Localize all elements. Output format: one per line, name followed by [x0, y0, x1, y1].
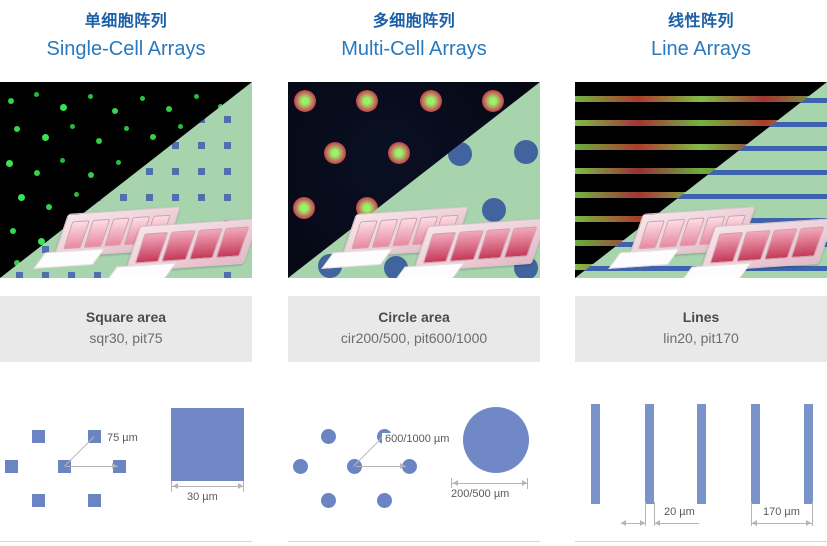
pitch-leader-horizontal: [66, 466, 118, 467]
pitch-arrow-left: [655, 520, 660, 526]
pattern-circle: [293, 459, 308, 474]
pitch-label: 75 µm: [104, 432, 141, 444]
size-arrow-right: [522, 480, 527, 486]
size-tick-left: [171, 481, 172, 492]
culture-slide-photo: [350, 196, 540, 278]
caption-subtitle: cir200/500, pit600/1000: [288, 327, 540, 349]
pattern-circle: [377, 493, 392, 508]
caption-title: Square area: [0, 307, 252, 327]
pattern-square: [88, 494, 101, 507]
pitch-arrow-head: [112, 463, 117, 469]
heading-chinese: 线性阵列: [575, 10, 827, 32]
pitch-extension-right: [812, 502, 813, 526]
pattern-square: [32, 430, 45, 443]
product-comparison-board: 单细胞阵列 Single-Cell Arrays: [0, 0, 827, 546]
heading-block: 多细胞阵列 Multi-Cell Arrays: [288, 10, 540, 64]
pitch-arrow-head-right: [806, 520, 811, 526]
size-tick-right: [243, 481, 244, 492]
pitch-arrow-head: [400, 463, 405, 469]
culture-slide-dark: [125, 218, 252, 272]
size-label: 200/500 µm: [448, 488, 512, 500]
pattern-square: [5, 460, 18, 473]
photo-multi-cell-arrays: [288, 82, 540, 278]
diagram-square-array: 75 µm 30 µm: [0, 382, 252, 542]
heading-block: 单细胞阵列 Single-Cell Arrays: [0, 10, 252, 64]
pitch-leader-diagonal: [353, 436, 383, 466]
photo-single-cell-arrays: [0, 82, 252, 278]
heading-chinese: 单细胞阵列: [0, 10, 252, 32]
feature-size-square: [171, 408, 244, 481]
column-multi-cell-arrays: 多细胞阵列 Multi-Cell Arrays: [288, 0, 540, 546]
pattern-circle: [321, 493, 336, 508]
pattern-line: [751, 404, 760, 504]
pitch-label: 170 µm: [760, 506, 803, 518]
size-arrow-right: [238, 483, 243, 489]
culture-slide-dark: [413, 218, 540, 272]
pattern-square: [32, 494, 45, 507]
caption-subtitle: sqr30, pit75: [0, 327, 252, 349]
column-single-cell-arrays: 单细胞阵列 Single-Cell Arrays: [0, 0, 252, 546]
pitch-dimension-line: [752, 523, 812, 524]
feature-size-circle: [463, 407, 529, 473]
width-arrow-right: [640, 520, 645, 526]
caption-line-arrays: Lines lin20, pit170: [575, 296, 827, 362]
heading-block: 线性阵列 Line Arrays: [575, 10, 827, 64]
diagram-line-array: 20 µm 170 µm: [575, 382, 827, 542]
pitch-leader-diagonal: [64, 436, 94, 466]
heading-english: Single-Cell Arrays: [0, 34, 252, 64]
pitch-label: 600/1000 µm: [382, 433, 452, 445]
caption-subtitle: lin20, pit170: [575, 327, 827, 349]
column-line-arrays: 线性阵列 Line Arrays: [575, 0, 827, 546]
size-label: 30 µm: [184, 491, 221, 503]
size-arrow-left: [453, 480, 458, 486]
pitch-arrow-head-left: [752, 520, 757, 526]
pattern-line: [697, 404, 706, 504]
heading-english: Line Arrays: [575, 34, 827, 64]
caption-multi-cell-arrays: Circle area cir200/500, pit600/1000: [288, 296, 540, 362]
caption-title: Circle area: [288, 307, 540, 327]
pattern-circle: [321, 429, 336, 444]
caption-single-cell-arrays: Square area sqr30, pit75: [0, 296, 252, 362]
line-width-label: 20 µm: [661, 506, 698, 518]
width-extension-left: [645, 502, 646, 526]
size-arrow-left: [173, 483, 178, 489]
culture-slide-photo: [637, 196, 827, 278]
heading-chinese: 多细胞阵列: [288, 10, 540, 32]
culture-slide-dark: [700, 218, 827, 272]
culture-slide-photo: [62, 196, 252, 278]
width-arrow-left: [621, 520, 626, 526]
pattern-line: [591, 404, 600, 504]
pattern-line: [804, 404, 813, 504]
pattern-line: [645, 404, 654, 504]
heading-english: Multi-Cell Arrays: [288, 34, 540, 64]
size-dimension-line: [171, 486, 244, 487]
diagram-circle-array: 600/1000 µm 200/500 µm: [288, 382, 540, 542]
photo-line-arrays: [575, 82, 827, 278]
size-tick-right: [527, 478, 528, 489]
pitch-leader-horizontal: [356, 466, 406, 467]
caption-title: Lines: [575, 307, 827, 327]
pitch-dimension-line-left: [655, 523, 699, 524]
size-dimension-line: [451, 483, 528, 484]
